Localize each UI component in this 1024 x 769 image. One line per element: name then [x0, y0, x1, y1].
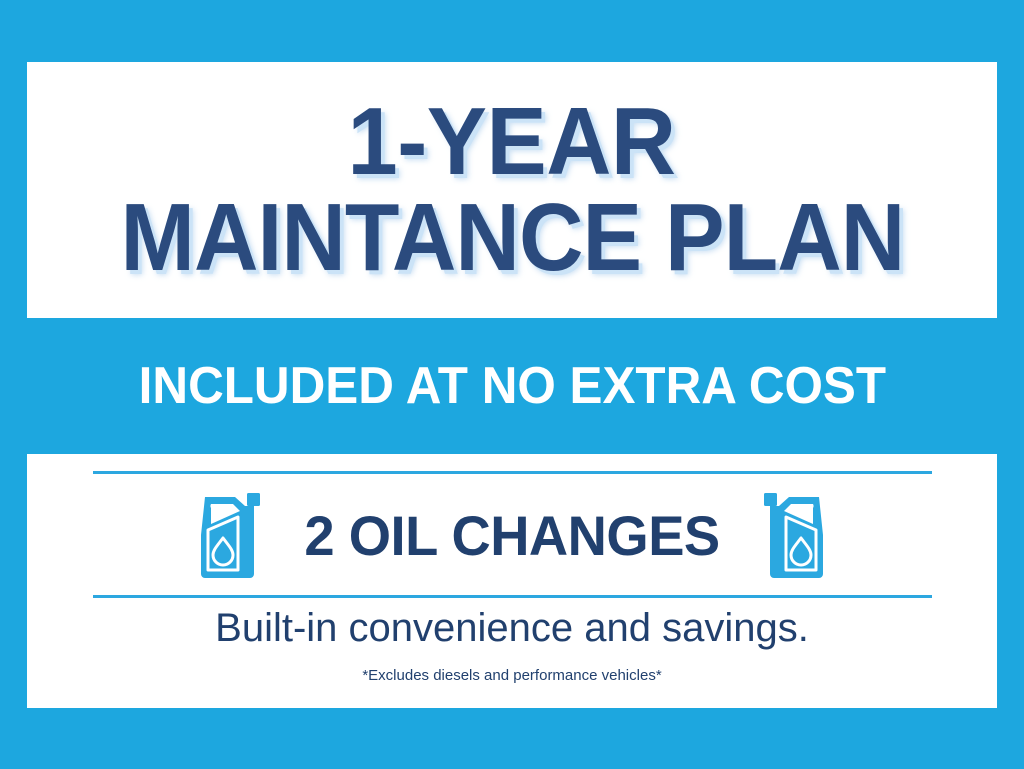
divider-rule-bottom: [93, 595, 932, 598]
oil-jug-icon: [192, 489, 264, 581]
headline-line-2: MAINTANCE PLAN: [120, 192, 904, 284]
subtitle-band: INCLUDED AT NO EXTRA COST: [0, 330, 1024, 442]
disclaimer-text: *Excludes diesels and performance vehicl…: [27, 667, 997, 684]
divider-rule-top: [93, 471, 932, 474]
detail-card: 2 OIL CHANGES Built-in convenience and s…: [27, 454, 997, 708]
offer-text: 2 OIL CHANGES: [304, 503, 719, 568]
subtitle-text: INCLUDED AT NO EXTRA COST: [138, 356, 885, 416]
tagline-text: Built-in convenience and savings.: [27, 606, 997, 651]
offer-row: 2 OIL CHANGES: [27, 480, 997, 590]
headline-line-1: 1-YEAR: [348, 96, 676, 188]
oil-jug-icon: [760, 489, 832, 581]
promo-poster: 1-YEAR MAINTANCE PLAN INCLUDED AT NO EXT…: [0, 0, 1024, 769]
headline-card: 1-YEAR MAINTANCE PLAN: [27, 62, 997, 318]
